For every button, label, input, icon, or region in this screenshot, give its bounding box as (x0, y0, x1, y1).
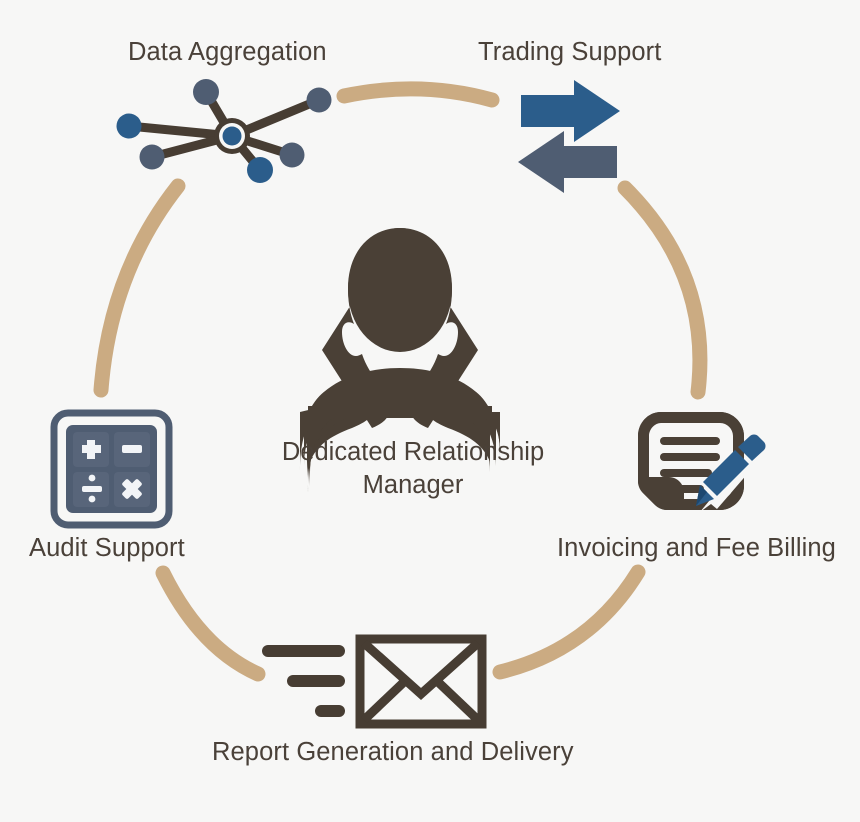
node-label-audit-support: Audit Support (29, 532, 185, 565)
diagram-canvas: Data Aggregation Trading Support Invoici… (0, 0, 860, 822)
arc-left (101, 186, 178, 390)
document-pencil-icon (638, 412, 766, 512)
node-label-data-aggregation: Data Aggregation (128, 36, 327, 69)
node-label-report-generation-delivery: Report Generation and Delivery (212, 736, 574, 769)
arc-right (625, 188, 700, 392)
center-label-line-2: Manager (263, 469, 563, 502)
network-nodes-icon (117, 79, 332, 183)
person-body-base (308, 410, 492, 416)
arc-bottom-left (163, 573, 258, 674)
node-label-invoicing-fee-billing: Invoicing and Fee Billing (557, 532, 836, 565)
arrow-right-blue (521, 80, 620, 142)
envelope-icon (262, 639, 482, 724)
arc-bottom-right (500, 572, 638, 672)
arrow-left-slate (518, 131, 617, 193)
arc-top (344, 89, 492, 100)
center-label-dedicated-relationship-manager: Dedicated Relationship Manager (263, 436, 563, 501)
diagram-graphics (0, 0, 860, 822)
center-label-line-1: Dedicated Relationship (263, 436, 563, 469)
calculator-icon (54, 413, 169, 525)
node-label-trading-support: Trading Support (478, 36, 661, 69)
person-torso (308, 368, 492, 414)
two-way-arrows-icon (518, 80, 620, 193)
